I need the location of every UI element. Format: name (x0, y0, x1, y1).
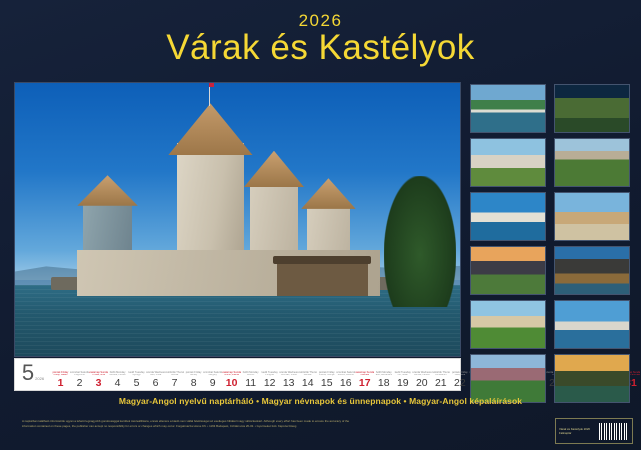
calendar-day[interactable]: hétfő MondayMónika, Flórián4 (108, 361, 127, 389)
calendar-day[interactable]: hétfő MondayErik, Alexandra18 (374, 361, 393, 389)
calendar-day[interactable]: csütörtök ThursdayBonifác14 (298, 361, 317, 389)
thumbnail-image (471, 193, 545, 240)
barcode-box: Várak és Kastélyok 2026 Falinaptár (555, 418, 633, 444)
right-tower-roof (301, 178, 355, 209)
calendar-day[interactable]: szombat SaturdayMózes, Botond16 (336, 361, 355, 389)
day-number: 9 (210, 378, 216, 389)
day-number: 7 (172, 378, 178, 389)
calendar-day[interactable]: péntek FridayMihály8 (184, 361, 203, 389)
flag-icon (209, 87, 210, 107)
month-indicator: 5 2026 (15, 362, 51, 388)
calendar-strip: 5 2026 péntek FridayFülöp, Jakab1szombat… (14, 358, 461, 391)
thumbnail-image (471, 355, 545, 402)
calendar-day[interactable]: csütörtök ThursdayKonstantin21 (431, 361, 450, 389)
day-number: 8 (191, 378, 197, 389)
day-number: 11 (245, 378, 256, 389)
day-number: 10 (226, 378, 238, 389)
month-year: 2026 (35, 376, 44, 381)
day-number: 15 (321, 378, 333, 389)
calendar-poster: 2026 Várak és Kastélyok 5 2026 péntek (0, 0, 641, 450)
day-number: 17 (359, 378, 371, 389)
calendar-day[interactable]: szombat SaturdayGergely9 (203, 361, 222, 389)
thumbnail-island-fortress-sea (554, 300, 630, 349)
month-number: 5 (22, 362, 34, 384)
calendar-day[interactable]: szerda WednesdayIvett, Frida6 (146, 361, 165, 389)
calendar-day[interactable]: szerda WednesdayBernát, Felícia20 (412, 361, 431, 389)
thumbnail-palace-courtyard-plaza (554, 192, 630, 241)
thumbnail-image (471, 247, 545, 294)
thumbnail-image (471, 139, 545, 186)
poster-header: 2026 Várak és Kastélyok (0, 0, 641, 80)
day-number: 14 (302, 378, 314, 389)
middle-tower-roof (244, 151, 305, 188)
day-number: 20 (416, 378, 428, 389)
thumbnail-twin-tower-castle-meadow (470, 138, 546, 187)
thumbnail-image (471, 85, 545, 132)
thumbnail-image (555, 85, 629, 132)
day-number: 22 (454, 378, 466, 389)
calendar-day[interactable]: csütörtök ThursdayGizella7 (165, 361, 184, 389)
left-tower-roof (77, 175, 138, 206)
thumbnail-image (555, 139, 629, 186)
day-number: 6 (153, 378, 159, 389)
day-number: 12 (264, 378, 276, 389)
thumbnail-image (555, 301, 629, 348)
calendar-day[interactable]: szerda WednesdaySzervác, Imola13 (279, 361, 298, 389)
calendar-day[interactable]: kedd TuesdayPongrác12 (260, 361, 279, 389)
thumbnail-manor-house-green-lawn (470, 300, 546, 349)
thumbnail-grid (470, 84, 630, 406)
thumbnail-image (555, 355, 629, 402)
thumbnail-aerial-castle-ramparts (554, 84, 630, 133)
calendar-day[interactable]: vasárnap SundayÁrmin, Pálma10 (222, 361, 241, 389)
thumbnail-image (555, 193, 629, 240)
calendar-day[interactable]: péntek FridayJúlia, Rita22 (450, 361, 469, 389)
thumbnail-hilltop-fortress-gardens (554, 138, 630, 187)
page-title: Várak és Kastélyok (0, 30, 641, 67)
day-number: 16 (340, 378, 352, 389)
boathouse (277, 262, 368, 296)
calendar-day[interactable]: hétfő MondayFerenc11 (241, 361, 260, 389)
thumbnail-lakeside-castle-blue-water (470, 192, 546, 241)
castle-structure (77, 143, 380, 296)
day-number: 18 (378, 378, 390, 389)
calendar-day[interactable]: péntek FridayZsófia, Szonja15 (317, 361, 336, 389)
day-number: 21 (435, 378, 447, 389)
main-photo (14, 82, 461, 357)
day-number: 3 (96, 378, 102, 389)
day-number: 2 (77, 378, 83, 389)
calendar-day[interactable]: kedd TuesdayIvó, Milán19 (393, 361, 412, 389)
day-number: 13 (283, 378, 295, 389)
thumbnail-japanese-castle-sunset (470, 246, 546, 295)
calendar-day[interactable]: szombat SaturdayZsigmond2 (70, 361, 89, 389)
thumbnail-ruined-castle-loch (554, 246, 630, 295)
barcode-icon (599, 423, 629, 440)
day-number: 19 (397, 378, 409, 389)
barcode-label: Várak és Kastélyok 2026 Falinaptár (559, 427, 596, 435)
thumbnail-image (471, 301, 545, 348)
thumbnail-chateau-reflection-lake (470, 84, 546, 133)
day-number: 1 (58, 378, 64, 389)
legal-fineprint: A naptárban található információk ugyan … (22, 419, 362, 429)
thumbnail-image (555, 247, 629, 294)
calendar-day[interactable]: kedd TuesdayGyörgyi5 (127, 361, 146, 389)
calendar-day[interactable]: vasárnap SundayTímea, Irma3 (89, 361, 108, 389)
calendar-day[interactable]: vasárnap SundayPaszkál17 (355, 361, 374, 389)
day-number: 4 (115, 378, 121, 389)
footer-tagline: Magyar-Angol nyelvű naptárháló • Magyar … (0, 396, 641, 406)
day-number: 5 (134, 378, 140, 389)
foreground-tree (384, 176, 455, 307)
calendar-day[interactable]: péntek FridayFülöp, Jakab1 (51, 361, 70, 389)
